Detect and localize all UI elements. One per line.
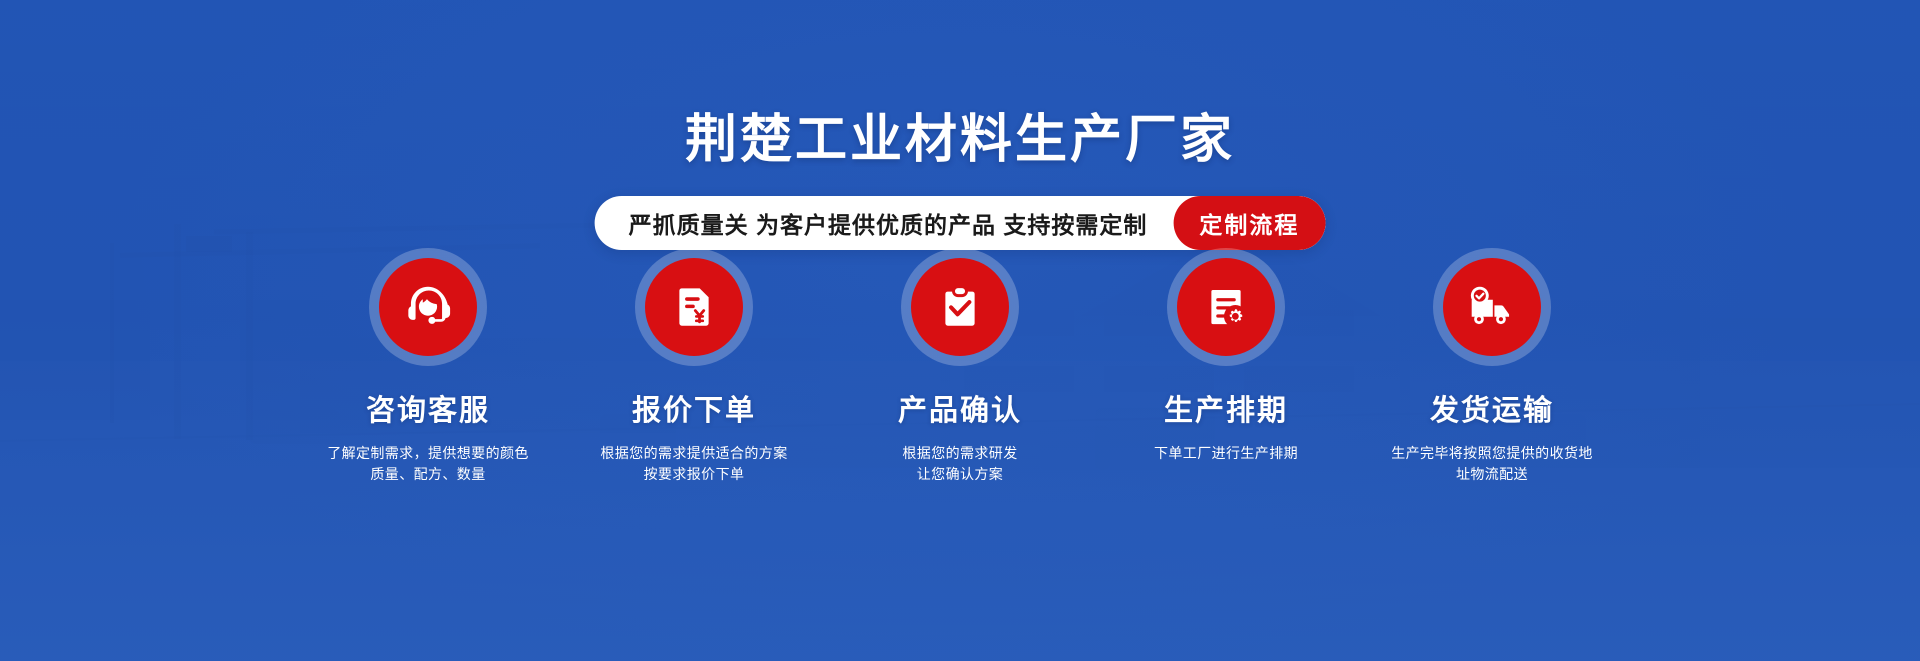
step-badge-ring [1167,248,1285,366]
step-item-shipping[interactable]: 发货运输 生产完毕将按照您提供的收货地 址物流配送 [1359,248,1625,485]
step-item-consult[interactable]: 咨询客服 了解定制需求，提供想要的颜色 质量、配方、数量 [295,248,561,485]
step-title: 产品确认 [898,387,1022,429]
slogan-pill: 严抓质量关 为客户提供优质的产品 支持按需定制 定制流程 [595,196,1326,250]
step-description-line1: 生产完毕将按照您提供的收货地 [1391,445,1593,461]
step-badge-ring [1433,248,1551,366]
step-title: 咨询客服 [366,387,490,429]
document-gear-icon [1200,281,1252,333]
step-item-schedule[interactable]: 生产排期 下单工厂进行生产排期 [1093,248,1359,485]
step-description-line2: 按要求报价下单 [644,466,745,482]
step-description: 了解定制需求，提供想要的颜色 质量、配方、数量 [327,443,529,485]
delivery-truck-check-icon [1466,281,1518,333]
clipboard-check-icon [934,281,986,333]
step-badge-ring [901,248,1019,366]
step-description: 生产完毕将按照您提供的收货地 址物流配送 [1391,443,1593,485]
invoice-yuan-icon [668,281,720,333]
step-description-line1: 了解定制需求，提供想要的颜色 [327,445,529,461]
step-title: 生产排期 [1164,387,1288,429]
custom-process-button[interactable]: 定制流程 [1173,196,1325,250]
step-description: 下单工厂进行生产排期 [1154,443,1298,464]
step-icon-disc [645,258,743,356]
step-description-line1: 下单工厂进行生产排期 [1154,445,1298,461]
step-icon-disc [1443,258,1541,356]
step-icon-disc [379,258,477,356]
headset-support-icon [402,281,454,333]
banner-content: 荆楚工业材料生产厂家 严抓质量关 为客户提供优质的产品 支持按需定制 定制流程 [0,0,1920,661]
step-description-line2: 让您确认方案 [917,466,1003,482]
step-description-line2: 质量、配方、数量 [370,466,485,482]
promo-banner: 荆楚工业材料生产厂家 严抓质量关 为客户提供优质的产品 支持按需定制 定制流程 [0,0,1920,661]
step-badge-ring [369,248,487,366]
process-steps: 咨询客服 了解定制需求，提供想要的颜色 质量、配方、数量 [295,248,1625,485]
step-icon-disc [911,258,1009,356]
step-description-line2: 址物流配送 [1456,466,1528,482]
step-description: 根据您的需求提供适合的方案 按要求报价下单 [600,443,787,485]
step-description: 根据您的需求研发 让您确认方案 [902,443,1017,485]
step-badge-ring [635,248,753,366]
step-title: 发货运输 [1430,387,1554,429]
step-description-line1: 根据您的需求提供适合的方案 [600,445,787,461]
step-title: 报价下单 [632,387,756,429]
step-item-quote[interactable]: 报价下单 根据您的需求提供适合的方案 按要求报价下单 [561,248,827,485]
step-icon-disc [1177,258,1275,356]
step-description-line1: 根据您的需求研发 [902,445,1017,461]
step-item-confirm[interactable]: 产品确认 根据您的需求研发 让您确认方案 [827,248,1093,485]
slogan-text: 严抓质量关 为客户提供优质的产品 支持按需定制 [595,196,1174,250]
page-title: 荆楚工业材料生产厂家 [0,97,1920,172]
